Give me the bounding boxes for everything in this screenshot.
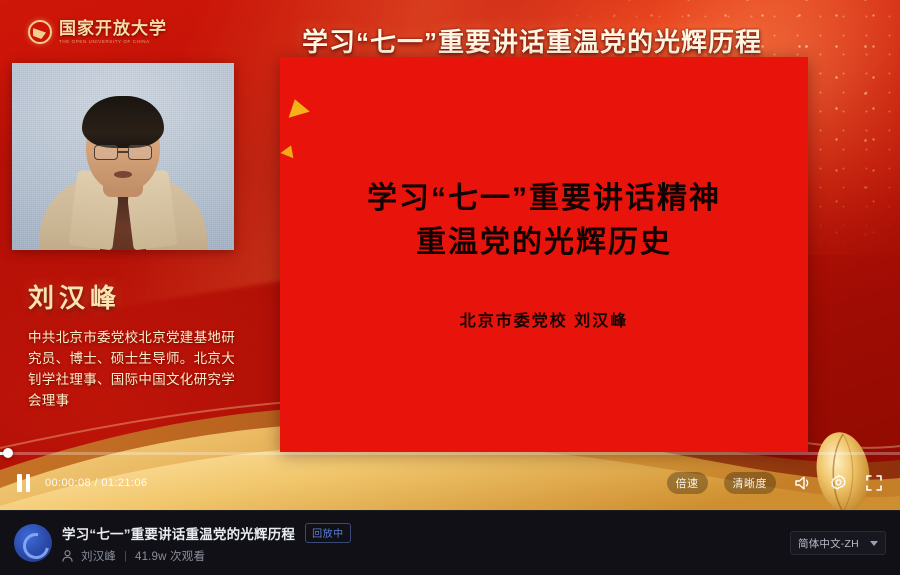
player-control-bar: 00:00:08 / 01:21:06 倍速 清晰度 bbox=[0, 464, 900, 502]
video-info-texts: 学习“七一”重要讲话重温党的光辉历程 回放中 刘汉峰 | 41.9w 次观看 bbox=[62, 523, 351, 564]
progress-handle[interactable] bbox=[3, 448, 13, 458]
open-university-swoosh-icon bbox=[28, 20, 52, 44]
slide-title-line1: 学习“七一”重要讲话精神 bbox=[367, 182, 721, 215]
quality-button[interactable]: 清晰度 bbox=[724, 472, 777, 494]
glasses-lens-left bbox=[94, 145, 118, 160]
video-meta-row: 刘汉峰 | 41.9w 次观看 bbox=[62, 548, 351, 564]
glasses-bridge bbox=[118, 151, 128, 153]
view-count: 41.9w 次观看 bbox=[135, 548, 205, 564]
video-info-bar: 学习“七一”重要讲话重温党的光辉历程 回放中 刘汉峰 | 41.9w 次观看 简… bbox=[0, 510, 900, 575]
presentation-slide[interactable]: 学习“七一”重要讲话精神 重温党的光辉历史 北京市委党校 刘汉峰 bbox=[280, 57, 808, 452]
slide-title: 学习“七一”重要讲话精神 重温党的光辉历史 bbox=[280, 177, 808, 264]
meta-separator: | bbox=[124, 550, 127, 562]
author-name[interactable]: 刘汉峰 bbox=[81, 548, 116, 564]
logo-name-cn: 国家开放大学 bbox=[59, 20, 167, 38]
progress-track[interactable] bbox=[0, 452, 900, 455]
gear-icon[interactable] bbox=[828, 473, 848, 493]
open-university-logo: 国家开放大学 THE OPEN UNIVERSITY OF CHINA bbox=[28, 20, 167, 44]
volume-icon[interactable] bbox=[792, 473, 812, 493]
player-controls-right: 倍速 清晰度 bbox=[667, 472, 885, 494]
channel-avatar[interactable] bbox=[14, 524, 52, 562]
time-display: 00:00:08 / 01:21:06 bbox=[45, 477, 147, 489]
slide-subtitle: 北京市委党校 刘汉峰 bbox=[280, 307, 808, 331]
status-badge: 回放中 bbox=[305, 523, 351, 543]
fullscreen-icon[interactable] bbox=[864, 473, 884, 493]
logo-name-en: THE OPEN UNIVERSITY OF CHINA bbox=[59, 39, 167, 44]
glasses-lens-right bbox=[128, 145, 152, 160]
language-select[interactable]: 简体中文-ZH bbox=[790, 531, 886, 555]
speaker-mouth bbox=[114, 171, 132, 178]
speaker-webcam-feed[interactable] bbox=[12, 63, 234, 250]
chevron-down-icon bbox=[870, 541, 878, 546]
playback-speed-button[interactable]: 倍速 bbox=[667, 472, 708, 494]
video-title: 学习“七一”重要讲话重温党的光辉历程 bbox=[62, 523, 295, 543]
slide-title-line2: 重温党的光辉历史 bbox=[280, 221, 808, 265]
speaker-bio: 中共北京市委党校北京党建基地研究员、博士、硕士生导师。北京大钊学社理事、国际中国… bbox=[28, 328, 243, 412]
pause-icon[interactable] bbox=[16, 474, 31, 492]
player-controls-left: 00:00:08 / 01:21:06 bbox=[16, 474, 147, 492]
speaker-hair bbox=[82, 96, 164, 148]
person-icon bbox=[62, 550, 73, 562]
language-select-label: 简体中文-ZH bbox=[798, 536, 859, 551]
video-title-row: 学习“七一”重要讲话重温党的光辉历程 回放中 bbox=[62, 523, 351, 543]
flag-star-icon-small bbox=[280, 143, 297, 158]
flag-star-icon-large bbox=[284, 96, 310, 117]
banner-title: 学习“七一”重要讲话重温党的光辉历程 bbox=[262, 22, 802, 59]
video-player-stage[interactable]: 国家开放大学 THE OPEN UNIVERSITY OF CHINA 学习“七… bbox=[0, 0, 900, 510]
speaker-name: 刘汉峰 bbox=[28, 278, 121, 315]
progress-bar[interactable] bbox=[0, 448, 900, 458]
